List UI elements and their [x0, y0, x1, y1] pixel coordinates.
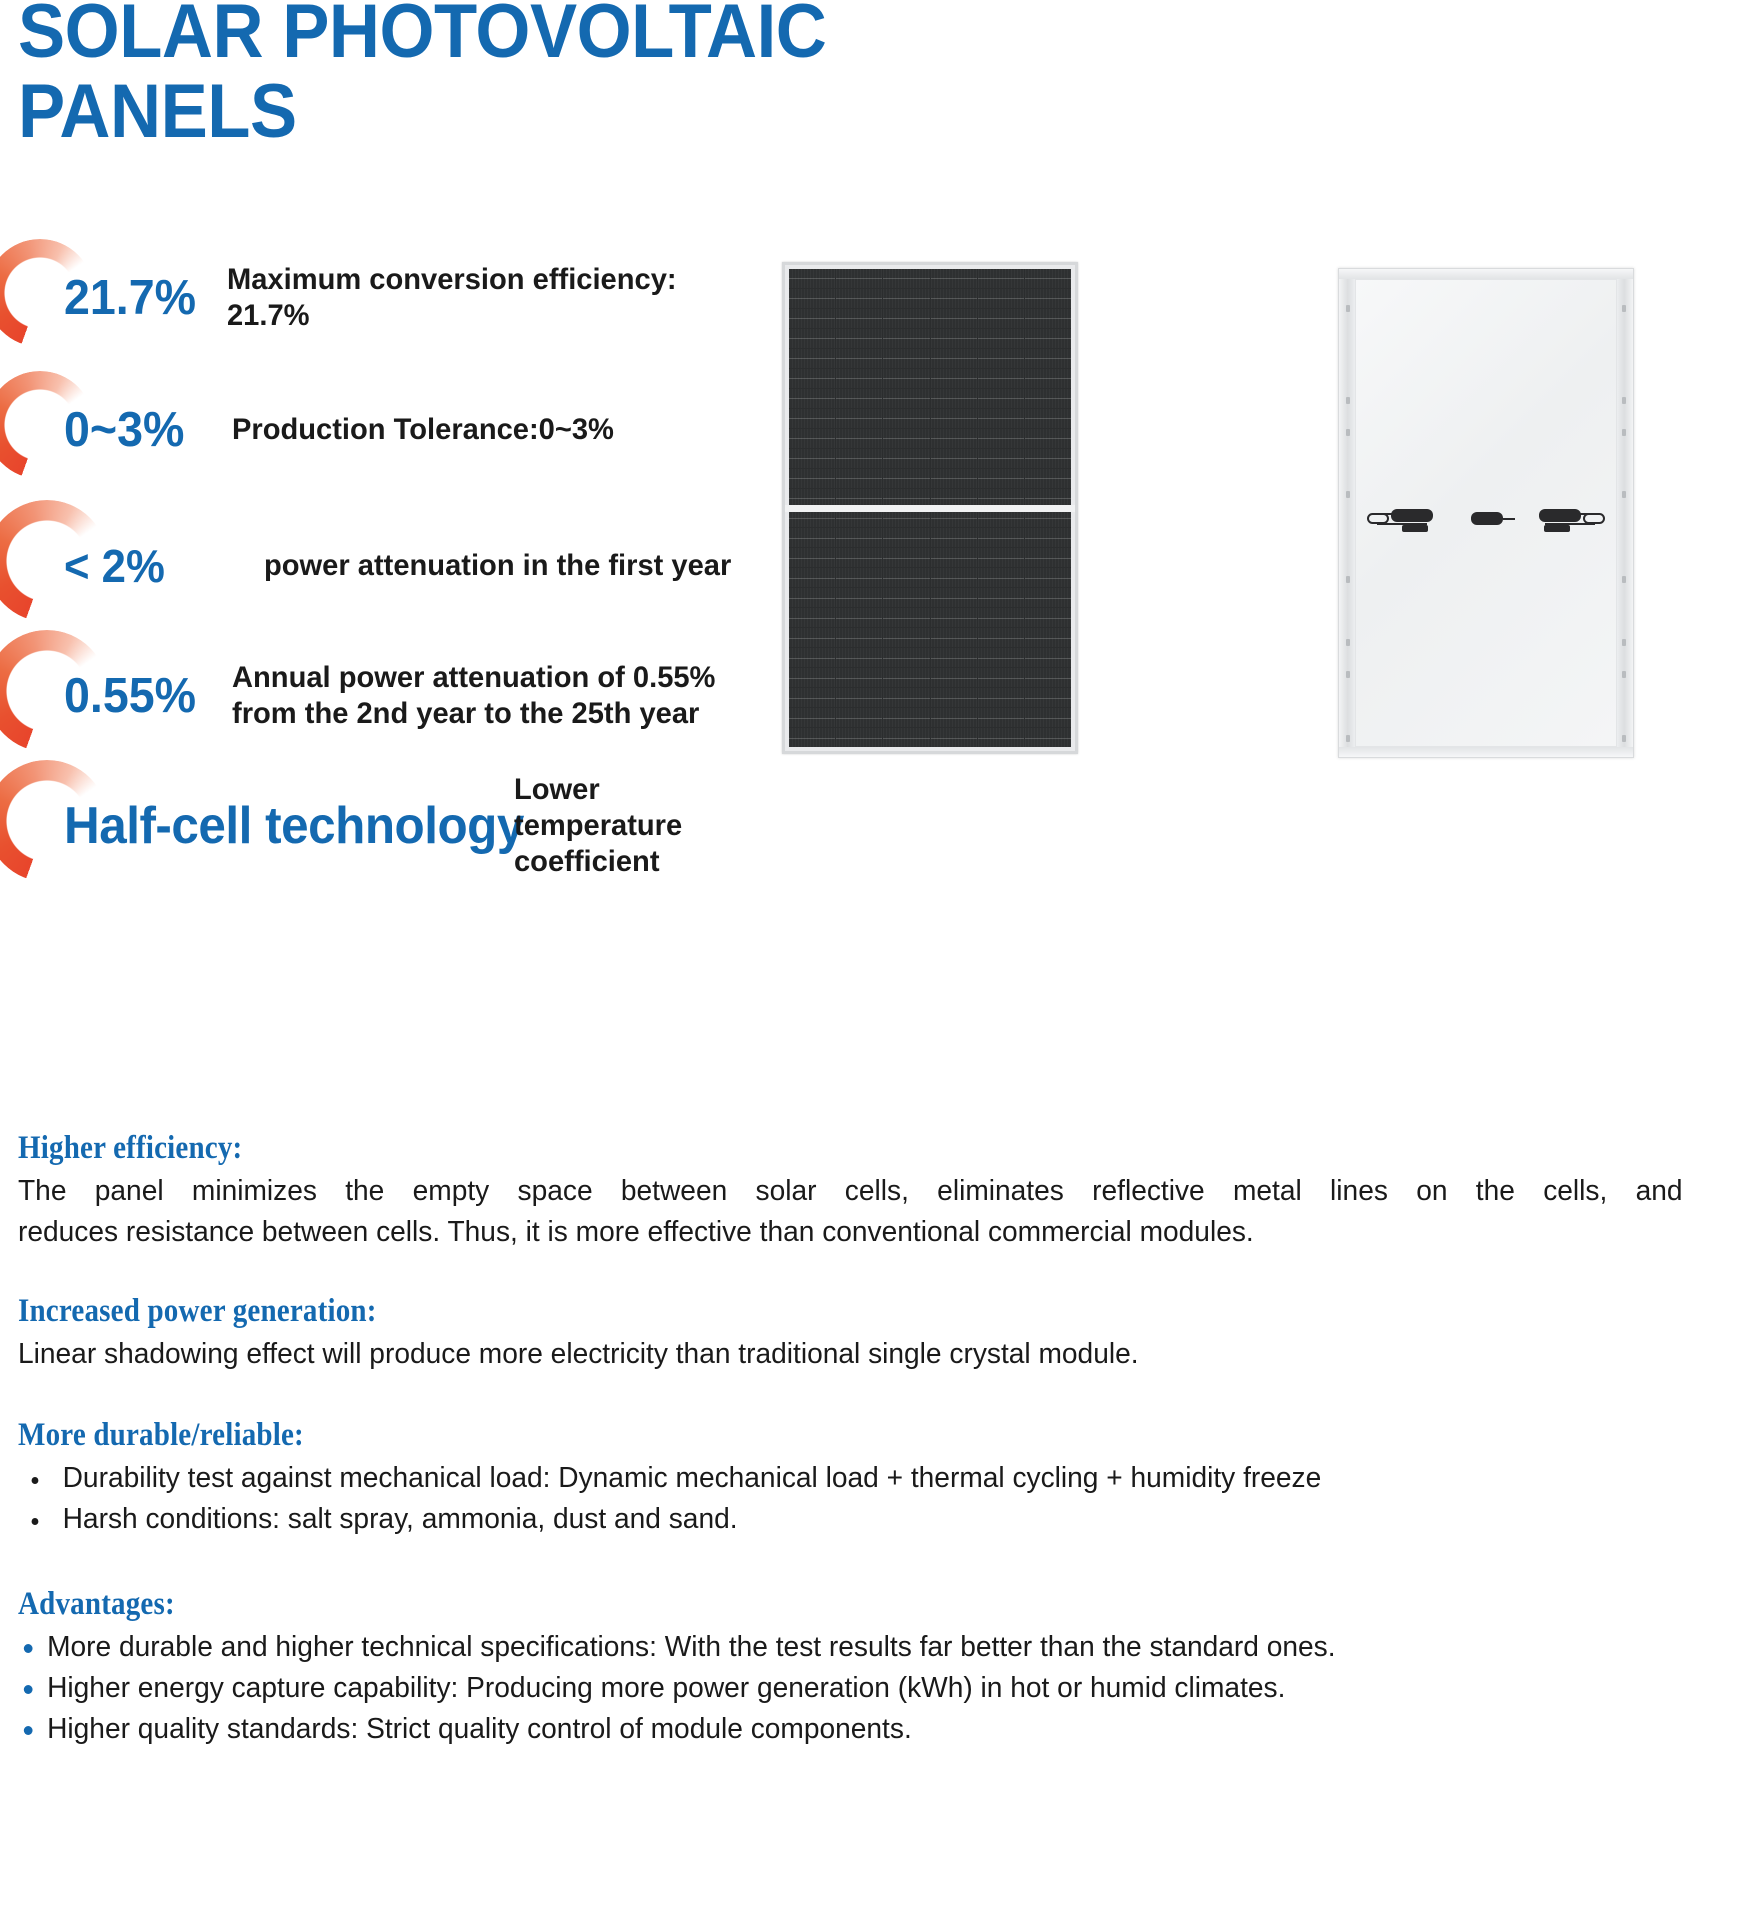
solar-cell: [883, 588, 929, 607]
solar-cell: [789, 588, 835, 607]
section-heading: More durable/reliable:: [18, 1415, 1514, 1455]
list-item: Higher quality standards: Strict quality…: [18, 1709, 1667, 1750]
solar-cell: [931, 289, 977, 308]
solar-cell: [883, 369, 929, 388]
section-paragraph: Linear shadowing effect will produce mor…: [18, 1334, 1667, 1375]
solar-cell: [1025, 409, 1071, 428]
solar-cell: [883, 429, 929, 448]
solar-cell: [978, 628, 1024, 647]
solar-cell: [931, 688, 977, 707]
solar-cell: [836, 588, 882, 607]
solar-cell: [978, 449, 1024, 468]
solar-cell: [883, 269, 929, 288]
section-heading: Increased power generation:: [18, 1291, 1514, 1331]
stat-description: Annual power attenuation of 0.55% from t…: [232, 660, 715, 732]
solar-cell: [931, 708, 977, 727]
solar-cell: [1025, 548, 1071, 567]
solar-cell: [1025, 309, 1071, 328]
solar-cell: [1025, 588, 1071, 607]
solar-cell: [1025, 568, 1071, 587]
solar-cell: [883, 329, 929, 348]
solar-cell: [836, 409, 882, 428]
section-advantages: Advantages: More durable and higher tech…: [18, 1584, 1718, 1750]
crescent-arc-icon: [0, 500, 64, 632]
crescent-arc-icon: [0, 760, 64, 892]
solar-cell: [883, 648, 929, 667]
cable-center: [1503, 518, 1515, 520]
junction-box-center: [1471, 512, 1503, 525]
mount-hole: [1346, 735, 1350, 742]
solar-cell: [789, 548, 835, 567]
solar-cell: [978, 349, 1024, 368]
mount-hole: [1346, 429, 1350, 436]
solar-cell: [789, 269, 835, 288]
solar-cell: [1025, 449, 1071, 468]
crescent-arc-icon: [0, 239, 64, 357]
solar-cell: [789, 309, 835, 328]
solar-cell: [836, 429, 882, 448]
solar-cell: [978, 429, 1024, 448]
solar-cell: [931, 608, 977, 627]
frame-right: [1617, 269, 1633, 757]
solar-cell: [789, 389, 835, 408]
mount-hole: [1622, 576, 1626, 583]
solar-cell: [931, 329, 977, 348]
solar-cell: [1025, 708, 1071, 727]
solar-cell: [789, 349, 835, 368]
solar-cell: [978, 269, 1024, 288]
solar-cell: [978, 369, 1024, 388]
solar-cell: [836, 349, 882, 368]
mount-hole: [1622, 429, 1626, 436]
solar-cell: [931, 668, 977, 687]
solar-cell: [931, 628, 977, 647]
section-paragraph: The panel minimizes the empty space betw…: [18, 1171, 1683, 1253]
solar-cell: [978, 688, 1024, 707]
solar-cell: [789, 568, 835, 587]
mount-hole: [1346, 305, 1350, 312]
stat-row: 21.7% Maximum conversion efficiency: 21.…: [0, 238, 760, 358]
solar-cell: [836, 688, 882, 707]
mount-hole: [1622, 639, 1626, 646]
solar-cell: [836, 608, 882, 627]
content-body: Higher efficiency: The panel minimizes t…: [18, 1128, 1718, 1788]
solar-cell: [1025, 389, 1071, 408]
solar-cell: [1025, 289, 1071, 308]
solar-cell: [1025, 528, 1071, 547]
mount-hole: [1622, 491, 1626, 498]
section-heading: Higher efficiency:: [18, 1128, 1514, 1168]
solar-cell: [883, 728, 929, 747]
solar-cell: [836, 728, 882, 747]
solar-cell: [883, 349, 929, 368]
solar-cell: [978, 648, 1024, 667]
solar-cell: [931, 389, 977, 408]
paragraph-line: The panel minimizes the empty space betw…: [18, 1171, 1683, 1212]
section-increased-power-generation: Increased power generation: Linear shado…: [18, 1291, 1718, 1375]
solar-cell: [789, 648, 835, 667]
mc4-connector-right: [1583, 513, 1605, 524]
solar-cell: [978, 469, 1024, 488]
solar-cell: [978, 568, 1024, 587]
solar-cell: [836, 548, 882, 567]
section-more-durable-reliable: More durable/reliable: Durability test a…: [18, 1415, 1718, 1540]
section-heading: Advantages:: [18, 1584, 1514, 1624]
stat-row: Half-cell technology Lower temperature c…: [0, 766, 760, 886]
solar-cell: [931, 648, 977, 667]
frame-top: [1339, 269, 1633, 279]
solar-cell: [1025, 329, 1071, 348]
cable-plug-right: [1544, 525, 1570, 532]
paragraph-line: reduces resistance between cells. Thus, …: [18, 1212, 1683, 1253]
solar-cell: [931, 409, 977, 428]
solar-cell: [978, 528, 1024, 547]
solar-cell: [883, 309, 929, 328]
solar-cell: [978, 608, 1024, 627]
solar-cell: [883, 608, 929, 627]
stat-value: < 2%: [64, 540, 254, 592]
junction-box-right: [1539, 509, 1581, 522]
solar-cell: [883, 389, 929, 408]
list-item: Harsh conditions: salt spray, ammonia, d…: [18, 1499, 1667, 1540]
solar-cell: [883, 708, 929, 727]
mount-hole: [1346, 639, 1350, 646]
solar-cell: [978, 668, 1024, 687]
stat-row: 0.55% Annual power attenuation of 0.55% …: [0, 636, 730, 756]
solar-cell: [789, 449, 835, 468]
solar-cell: [931, 568, 977, 587]
solar-cell: [883, 668, 929, 687]
solar-cell: [836, 289, 882, 308]
solar-cell: [978, 409, 1024, 428]
solar-cell: [978, 588, 1024, 607]
solar-cell: [789, 668, 835, 687]
solar-cell: [789, 429, 835, 448]
solar-cell: [883, 628, 929, 647]
mount-hole: [1346, 491, 1350, 498]
solar-cell: [836, 269, 882, 288]
solar-cell: [836, 309, 882, 328]
solar-cell: [836, 648, 882, 667]
solar-cell: [931, 548, 977, 567]
solar-cell: [883, 548, 929, 567]
mount-hole: [1622, 305, 1626, 312]
page-title: SOLAR PHOTOVOLTAIC PANELS: [18, 0, 1041, 152]
frame-left: [1339, 269, 1355, 757]
solar-cell: [1025, 628, 1071, 647]
solar-cell: [836, 449, 882, 468]
stat-row: < 2% power attenuation in the first year: [0, 506, 746, 626]
solar-cell: [931, 429, 977, 448]
solar-cell: [978, 728, 1024, 747]
solar-cell: [883, 688, 929, 707]
solar-cell: [978, 708, 1024, 727]
solar-cell: [836, 329, 882, 348]
solar-cell: [1025, 429, 1071, 448]
solar-cell: [1025, 469, 1071, 488]
solar-cell: [931, 469, 977, 488]
solar-cell: [883, 289, 929, 308]
solar-cell: [931, 369, 977, 388]
solar-cell: [931, 269, 977, 288]
solar-panel-back-view: [1338, 268, 1634, 758]
solar-cell: [883, 409, 929, 428]
solar-cell: [978, 309, 1024, 328]
solar-cell: [883, 469, 929, 488]
stat-description: Lower temperature coefficient: [514, 772, 753, 880]
solar-cell: [1025, 728, 1071, 747]
solar-cell: [836, 668, 882, 687]
solar-cell: [883, 568, 929, 587]
solar-cell: [1025, 349, 1071, 368]
solar-cell: [789, 289, 835, 308]
solar-cell: [1025, 668, 1071, 687]
cable-plug-left: [1402, 525, 1428, 532]
crescent-arc-icon: [0, 630, 64, 762]
solar-cell: [978, 329, 1024, 348]
section-higher-efficiency: Higher efficiency: The panel minimizes t…: [18, 1128, 1718, 1253]
solar-cell: [883, 528, 929, 547]
solar-cell: [931, 309, 977, 328]
solar-cell: [789, 608, 835, 627]
mount-hole: [1622, 671, 1626, 678]
stat-description: power attenuation in the first year: [264, 548, 731, 584]
stat-value: Half-cell technology: [64, 800, 492, 852]
crescent-arc-icon: [0, 371, 64, 489]
solar-cell: [978, 548, 1024, 567]
solar-panel-front-view: [782, 262, 1078, 754]
junction-box-left: [1391, 509, 1433, 522]
solar-cell: [789, 528, 835, 547]
mount-hole: [1346, 671, 1350, 678]
solar-cell: [1025, 648, 1071, 667]
solar-cell: [789, 469, 835, 488]
solar-cell: [931, 728, 977, 747]
mount-hole: [1622, 397, 1626, 404]
solar-cell: [978, 389, 1024, 408]
solar-cell: [1025, 688, 1071, 707]
bullet-list: More durable and higher technical specif…: [18, 1627, 1718, 1750]
mount-hole: [1346, 397, 1350, 404]
stat-value: 0~3%: [64, 404, 224, 456]
list-item: More durable and higher technical specif…: [18, 1627, 1667, 1668]
solar-cell: [789, 728, 835, 747]
solar-cell: [789, 329, 835, 348]
solar-cell: [883, 449, 929, 468]
solar-cell: [1025, 269, 1071, 288]
stat-row: 0~3% Production Tolerance:0~3%: [0, 370, 626, 490]
solar-cell: [789, 628, 835, 647]
solar-cell: [836, 469, 882, 488]
solar-cell: [836, 708, 882, 727]
stat-value: 21.7%: [64, 272, 219, 324]
mount-hole: [1622, 735, 1626, 742]
solar-cell: [789, 409, 835, 428]
stat-value: 0.55%: [64, 670, 224, 722]
half-cell-divider: [785, 505, 1075, 512]
solar-cell: [836, 528, 882, 547]
solar-cell: [836, 568, 882, 587]
solar-cell: [789, 688, 835, 707]
bullet-list: Durability test against mechanical load:…: [18, 1458, 1718, 1540]
product-images: [782, 262, 1662, 772]
list-item: Higher energy capture capability: Produc…: [18, 1668, 1667, 1709]
solar-cell: [931, 349, 977, 368]
solar-cell: [836, 389, 882, 408]
list-item: Durability test against mechanical load:…: [18, 1458, 1667, 1499]
solar-cell: [1025, 369, 1071, 388]
solar-cell: [836, 628, 882, 647]
solar-cell: [931, 528, 977, 547]
stat-description: Maximum conversion efficiency: 21.7%: [227, 262, 744, 334]
mount-hole: [1346, 576, 1350, 583]
solar-cell: [836, 369, 882, 388]
solar-cell: [789, 708, 835, 727]
solar-cell: [978, 289, 1024, 308]
solar-cell: [789, 369, 835, 388]
solar-cell: [1025, 608, 1071, 627]
frame-bottom: [1339, 747, 1633, 757]
stat-description: Production Tolerance:0~3%: [232, 412, 614, 448]
solar-cell: [931, 449, 977, 468]
solar-cell: [931, 588, 977, 607]
